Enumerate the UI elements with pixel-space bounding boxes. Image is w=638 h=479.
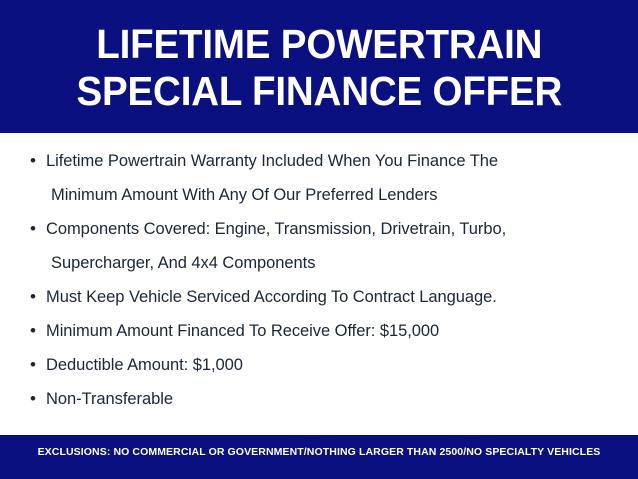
list-item-text: Non-Transferable [46, 382, 624, 416]
bullet-point-icon: • [24, 382, 46, 416]
list-item: • Minimum Amount Financed To Receive Off… [24, 314, 624, 348]
bullet-point-icon: • [24, 348, 46, 382]
list-item: • Lifetime Powertrain Warranty Included … [24, 144, 624, 212]
bullet-list: • Lifetime Powertrain Warranty Included … [0, 133, 638, 435]
list-item: • Components Covered: Engine, Transmissi… [24, 212, 624, 280]
exclusions-disclaimer: EXCLUSIONS: NO COMMERCIAL OR GOVERNMENT/… [38, 446, 601, 459]
list-item-line-wrapped: Minimum Amount With Any Of Our Preferred… [46, 178, 624, 212]
list-item-line-wrapped: Supercharger, And 4x4 Components [46, 246, 624, 280]
slide-footer-band: EXCLUSIONS: NO COMMERCIAL OR GOVERNMENT/… [0, 435, 638, 479]
offer-slide: LIFETIME POWERTRAIN SPECIAL FINANCE OFFE… [0, 0, 638, 479]
list-item-text: Must Keep Vehicle Serviced According To … [46, 280, 624, 314]
list-item: • Deductible Amount: $1,000 [24, 348, 624, 382]
list-item: • Must Keep Vehicle Serviced According T… [24, 280, 624, 314]
list-item-line: Must Keep Vehicle Serviced According To … [46, 280, 624, 314]
bullet-point-icon: • [24, 212, 46, 246]
list-item-line: Deductible Amount: $1,000 [46, 348, 624, 382]
list-item-text: Deductible Amount: $1,000 [46, 348, 624, 382]
slide-header-band: LIFETIME POWERTRAIN SPECIAL FINANCE OFFE… [0, 0, 638, 133]
bullet-point-icon: • [24, 144, 46, 178]
list-item-line: Lifetime Powertrain Warranty Included Wh… [46, 144, 624, 178]
list-item-line: Components Covered: Engine, Transmission… [46, 212, 624, 246]
list-item: • Non-Transferable [24, 382, 624, 416]
list-item-line: Non-Transferable [46, 382, 624, 416]
bullet-point-icon: • [24, 314, 46, 348]
slide-title-line-1: LIFETIME POWERTRAIN [96, 21, 542, 68]
list-item-text: Components Covered: Engine, Transmission… [46, 212, 624, 280]
list-item-text: Minimum Amount Financed To Receive Offer… [46, 314, 624, 348]
bullet-point-icon: • [24, 280, 46, 314]
slide-title-line-2: SPECIAL FINANCE OFFER [76, 68, 562, 115]
list-item-line: Minimum Amount Financed To Receive Offer… [46, 314, 624, 348]
list-item-text: Lifetime Powertrain Warranty Included Wh… [46, 144, 624, 212]
